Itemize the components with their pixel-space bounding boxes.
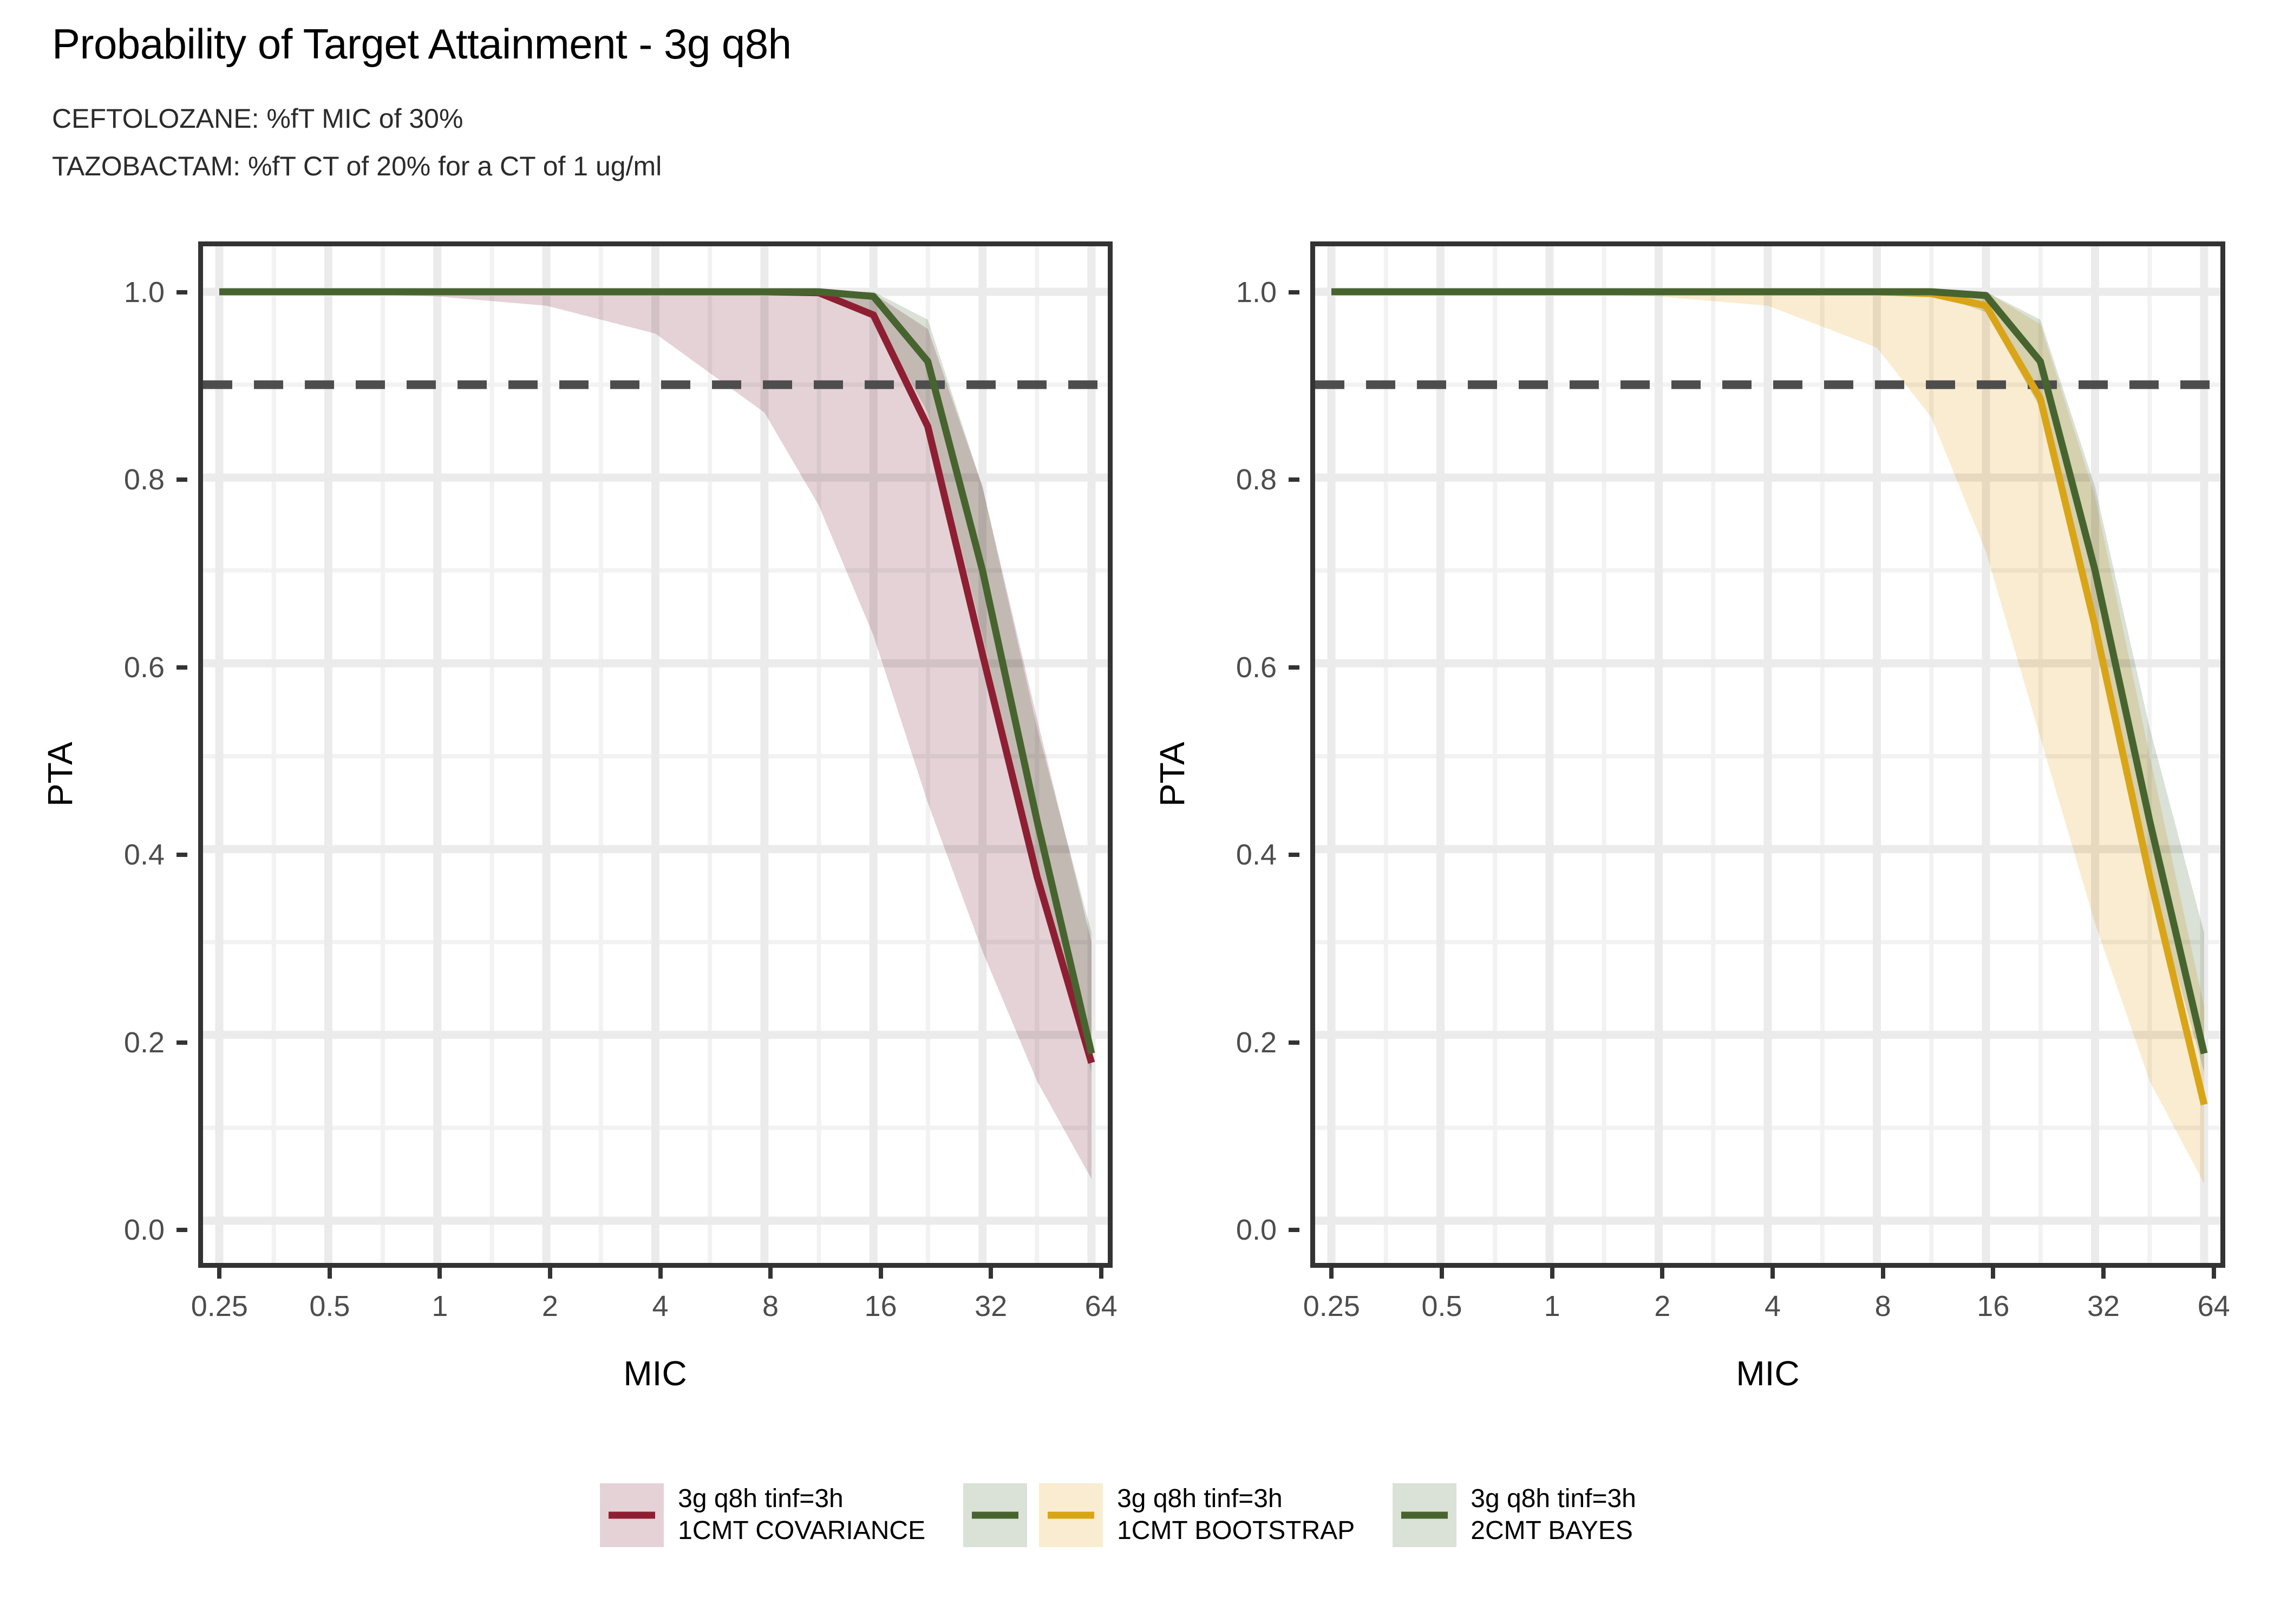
y-tick-mark	[1289, 477, 1299, 482]
x-tick-label: 64	[2198, 1289, 2230, 1323]
x-tick-mark	[1991, 1268, 1995, 1279]
legend-key-line-covariance	[609, 1512, 655, 1519]
x-tick-mark	[1881, 1268, 1885, 1279]
x-tick-mark	[548, 1268, 552, 1279]
legend-label-line1: 3g q8h tinf=3h	[1117, 1483, 1355, 1515]
x-tick-mark	[879, 1268, 883, 1279]
legend-label-line1: 3g q8h tinf=3h	[678, 1483, 925, 1515]
x-axis-title-left: MIC	[623, 1353, 687, 1393]
y-axis-title-left: PTA	[40, 742, 80, 807]
legend-key-line-bayes	[1401, 1512, 1448, 1519]
x-tick-label: 0.5	[1421, 1289, 1462, 1323]
x-tick-label: 1	[432, 1289, 448, 1323]
x-tick-label: 32	[2087, 1289, 2120, 1323]
x-tick-mark	[328, 1268, 332, 1279]
y-tick-label: 0.6	[124, 651, 165, 684]
y-tick-mark	[1289, 1228, 1299, 1232]
y-tick-label: 0.4	[1236, 838, 1277, 872]
plot-panel-left	[198, 241, 1113, 1268]
x-tick-label: 0.5	[309, 1289, 350, 1323]
y-tick-label: 0.2	[1236, 1026, 1277, 1059]
y-tick-label: 0.4	[124, 838, 165, 872]
x-tick-label: 16	[1977, 1289, 2009, 1323]
plot-svg-left	[203, 246, 1108, 1263]
plot-svg-right	[1315, 246, 2220, 1263]
x-tick-label: 8	[1875, 1289, 1891, 1323]
x-tick-mark	[1660, 1268, 1664, 1279]
y-tick-label: 0.2	[124, 1026, 165, 1059]
x-tick-mark	[1099, 1268, 1103, 1279]
legend-key-bayes[interactable]	[1393, 1483, 1456, 1547]
x-tick-label: 0.25	[1303, 1289, 1360, 1323]
x-tick-mark	[768, 1268, 773, 1279]
x-axis-labels-left: 0.250.51248163264	[198, 1268, 1113, 1338]
y-tick-mark	[177, 665, 187, 670]
x-tick-mark	[658, 1268, 663, 1279]
legend-key-bootstrap[interactable]	[1039, 1483, 1103, 1547]
page-title: Probability of Target Attainment - 3g q8…	[52, 19, 792, 69]
legend-label: 3g q8h tinf=3h2CMT BAYES	[1471, 1483, 1636, 1547]
x-tick-label: 1	[1544, 1289, 1560, 1323]
legend-label-line2: 2CMT BAYES	[1471, 1515, 1636, 1547]
legend: 3g q8h tinf=3h1CMT COVARIANCE3g q8h tinf…	[0, 1483, 2274, 1547]
x-tick-mark	[2101, 1268, 2106, 1279]
y-tick-label: 0.8	[124, 463, 165, 496]
y-tick-label: 0.0	[1236, 1213, 1277, 1247]
legend-keys	[1393, 1483, 1456, 1547]
legend-key-line-bootstrap	[1048, 1512, 1094, 1519]
legend-label-line1: 3g q8h tinf=3h	[1471, 1483, 1636, 1515]
plot-area-right	[1315, 246, 2220, 1263]
x-tick-mark	[2212, 1268, 2216, 1279]
y-tick-mark	[177, 853, 187, 857]
x-tick-label: 0.25	[191, 1289, 248, 1323]
legend-label-line2: 1CMT COVARIANCE	[678, 1515, 925, 1547]
x-tick-label: 4	[652, 1289, 668, 1323]
chart-page: Probability of Target Attainment - 3g q8…	[0, 0, 2274, 1624]
legend-entry-1cmt-bootstrap[interactable]: 3g q8h tinf=3h1CMT BOOTSTRAP	[963, 1483, 1393, 1547]
x-axis-title-right: MIC	[1736, 1353, 1799, 1393]
legend-label: 3g q8h tinf=3h1CMT COVARIANCE	[678, 1483, 925, 1547]
y-tick-label: 0.6	[1236, 651, 1277, 684]
x-axis-labels-right: 0.250.51248163264	[1310, 1268, 2225, 1338]
legend-key-covariance[interactable]	[600, 1483, 664, 1547]
y-tick-mark	[177, 477, 187, 482]
x-tick-mark	[1770, 1268, 1775, 1279]
legend-keys	[963, 1483, 1103, 1547]
y-tick-label: 1.0	[124, 276, 165, 309]
plot-panel-right	[1310, 241, 2225, 1268]
y-axis-title-right: PTA	[1152, 742, 1192, 807]
legend-keys	[600, 1483, 664, 1547]
y-tick-mark	[177, 1228, 187, 1232]
x-tick-label: 32	[975, 1289, 1007, 1323]
legend-key-line-bayes-pair	[972, 1512, 1018, 1519]
x-tick-label: 4	[1765, 1289, 1781, 1323]
y-tick-label: 0.8	[1236, 463, 1277, 496]
x-tick-label: 2	[1654, 1289, 1670, 1323]
x-tick-mark	[1329, 1268, 1334, 1279]
x-tick-label: 2	[542, 1289, 558, 1323]
y-tick-label: 1.0	[1236, 276, 1277, 309]
legend-key-bayes-pair[interactable]	[963, 1483, 1027, 1547]
x-tick-label: 8	[762, 1289, 779, 1323]
x-tick-mark	[1440, 1268, 1444, 1279]
x-tick-mark	[217, 1268, 221, 1279]
y-tick-mark	[1289, 1040, 1299, 1045]
legend-label-line2: 1CMT BOOTSTRAP	[1117, 1515, 1355, 1547]
x-tick-mark	[437, 1268, 442, 1279]
subtitle-ceftolozane: CEFTOLOZANE: %fT MIC of 30%	[52, 103, 463, 134]
plot-area-left	[203, 246, 1108, 1263]
y-tick-label: 0.0	[124, 1213, 165, 1247]
x-tick-label: 16	[865, 1289, 897, 1323]
y-tick-mark	[177, 1040, 187, 1045]
x-tick-label: 64	[1085, 1289, 1118, 1323]
x-tick-mark	[1550, 1268, 1554, 1279]
legend-entry-2cmt-bayes[interactable]: 3g q8h tinf=3h2CMT BAYES	[1393, 1483, 1674, 1547]
y-tick-mark	[1289, 853, 1299, 857]
legend-entry-1cmt-covariance[interactable]: 3g q8h tinf=3h1CMT COVARIANCE	[600, 1483, 963, 1547]
y-tick-mark	[1289, 290, 1299, 294]
x-tick-mark	[989, 1268, 993, 1279]
y-tick-mark	[1289, 665, 1299, 670]
y-tick-mark	[177, 290, 187, 294]
legend-label: 3g q8h tinf=3h1CMT BOOTSTRAP	[1117, 1483, 1355, 1547]
subtitle-tazobactam: TAZOBACTAM: %fT CT of 20% for a CT of 1 …	[52, 150, 662, 182]
